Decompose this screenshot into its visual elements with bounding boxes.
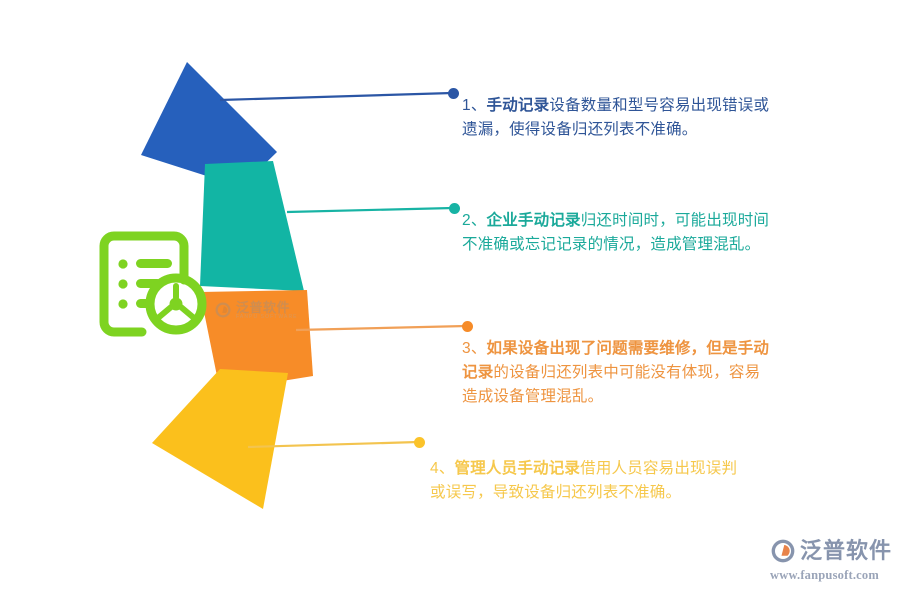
ribbon-block-4: [152, 369, 288, 509]
watermark-cn: 泛普软件: [236, 301, 298, 314]
callout-text-4: 4、管理人员手动记录借用人员容易出现误判或误写，导致设备归还列表不准确。: [430, 433, 740, 505]
callout-number-2: 2、: [462, 212, 487, 229]
callout-lead-2: 企业手动记录: [487, 212, 581, 229]
connector-line-2: [287, 208, 453, 212]
connector-line-3: [296, 326, 466, 330]
equipment-return-list-icon: [96, 228, 214, 340]
callout-number-4: 4、: [430, 460, 455, 477]
callout-text-2: 2、企业手动记录归还时间时，可能出现时间不准确或忘记记录的情况，造成管理混乱。: [462, 185, 772, 257]
fanpu-mark-icon: [214, 301, 232, 319]
callout-lead-1: 手动记录: [487, 97, 550, 114]
brand-logo: 泛普软件 www.fanpusoft.com: [770, 538, 892, 583]
connector-dot-2: [449, 203, 460, 214]
block-watermark: 泛普软件 FANPU SOFTWARE: [214, 294, 318, 326]
callout-lead-4: 管理人员手动记录: [455, 460, 581, 477]
fanpu-logo-icon: [770, 538, 796, 564]
callout-number-3: 3、: [462, 340, 487, 357]
ribbon-block-3: [200, 290, 313, 391]
logo-row: 泛普软件: [770, 538, 892, 564]
ribbon-block-1: [141, 62, 277, 187]
connector-dot-4: [414, 437, 425, 448]
logo-website-url: www.fanpusoft.com: [770, 568, 879, 583]
logo-company-name: 泛普软件: [800, 540, 892, 562]
ribbon-block-2: [200, 161, 304, 291]
connector-dot-1: [448, 88, 459, 99]
callout-number-1: 1、: [462, 97, 487, 114]
callout-text-3: 3、如果设备出现了问题需要维修，但是手动记录的设备归还列表中可能没有体现，容易造…: [462, 313, 772, 409]
watermark-en: FANPU SOFTWARE: [236, 315, 298, 320]
connector-line-4: [248, 442, 418, 447]
infographic-canvas: 泛普软件 FANPU SOFTWARE 1、手动记录设备数量和型号容易出现错误或…: [0, 0, 900, 600]
connector-line-1: [220, 93, 452, 100]
callout-text-1: 1、手动记录设备数量和型号容易出现错误或遗漏，使得设备归还列表不准确。: [462, 70, 772, 142]
callout-body-3: 的设备归还列表中可能没有体现，容易造成设备管理混乱。: [462, 364, 760, 405]
